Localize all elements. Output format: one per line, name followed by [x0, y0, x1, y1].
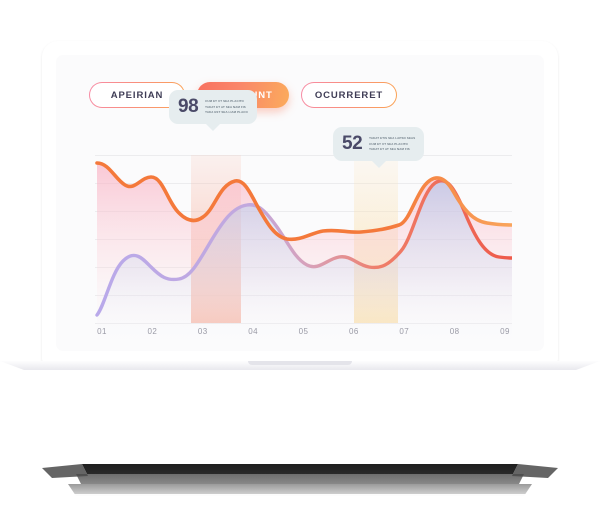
- x-label-01: 01: [95, 327, 109, 336]
- tab-ocurreret-label: OCURRERET: [315, 90, 383, 101]
- tooltip-98-line-2: TAKAT ET AT SEA NAM FIS: [205, 106, 248, 109]
- tab-apeirian-label: APEIRIAN: [111, 90, 164, 101]
- x-label-07: 07: [397, 327, 411, 336]
- tab-ocurreret[interactable]: OCURRERET: [301, 82, 397, 108]
- tooltip-98[interactable]: 98 CUM ET UT SEA PLACITO TAKAT ET AT SEA…: [169, 90, 257, 124]
- tooltip-52-line-2: CUM ET UT SEA PLACITO: [369, 143, 415, 146]
- tooltip-98-line-1: CUM ET UT SEA PLACITO: [205, 100, 248, 103]
- x-label-09: 09: [498, 327, 512, 336]
- tooltip-52-text: TAKAT ETIS SEA LAPSO SEAS CUM ET UT SEA …: [369, 137, 415, 150]
- laptop-reflection: [0, 444, 600, 524]
- x-label-05: 05: [297, 327, 311, 336]
- tooltip-52-line-1: TAKAT ETIS SEA LAPSO SEAS: [369, 137, 415, 140]
- laptop-screen: APEIRIAN DESERUNT OCURRERET: [56, 55, 544, 351]
- chart-svg: [95, 155, 512, 351]
- x-label-08: 08: [448, 327, 462, 336]
- tooltip-52-value: 52: [342, 133, 362, 155]
- tooltip-52-line-3: TAKAT ET AT SEA NAM FIS: [369, 148, 415, 151]
- x-label-06: 06: [347, 327, 361, 336]
- chart-area: [95, 155, 512, 351]
- x-label-02: 02: [145, 327, 159, 336]
- tooltip-98-value: 98: [178, 96, 198, 118]
- laptop-base-notch: [248, 361, 352, 365]
- tooltip-98-text: CUM ET UT SEA PLACITO TAKAT ET AT SEA NA…: [205, 100, 248, 113]
- tooltip-98-line-3: TAKA EST SEA LIAM PLACO: [205, 111, 248, 114]
- x-label-03: 03: [196, 327, 210, 336]
- x-label-04: 04: [246, 327, 260, 336]
- tooltip-52[interactable]: 52 TAKAT ETIS SEA LAPSO SEAS CUM ET UT S…: [333, 127, 424, 161]
- x-axis-labels: 01 02 03 04 05 06 07 08 09: [95, 327, 512, 336]
- screenshot-root: APEIRIAN DESERUNT OCURRERET: [0, 0, 600, 524]
